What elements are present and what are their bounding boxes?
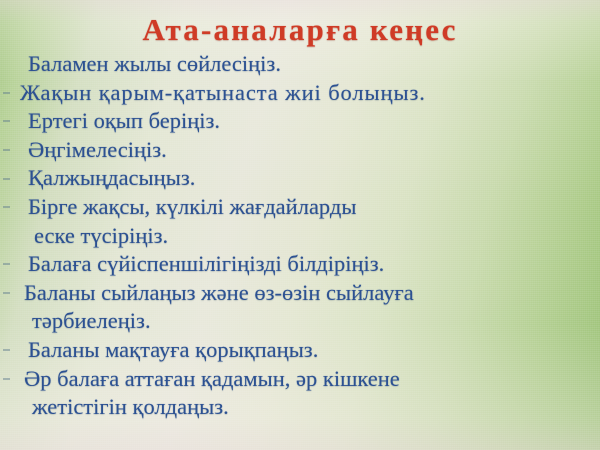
list-item-label: Жақын қарым-қатынаста жиі болыңыз. [20, 79, 426, 108]
bullet-dash-icon [3, 263, 10, 265]
list-item-label: Баланы мақтауға қорықпаңыз. [28, 336, 318, 365]
list-item-label: Балаға сүйіспеншілігіңізді білдіріңіз. [28, 250, 384, 279]
bullet-dash-icon [3, 349, 10, 351]
list-item-label: Ертегі оқып беріңіз. [28, 107, 220, 136]
list-item: Бірге жақсы, күлкілі жағдайларды [0, 193, 600, 222]
bullet-dash-icon [3, 92, 10, 94]
list-item: Ертегі оқып беріңіз. [0, 107, 600, 136]
list-item: Баламен жылы сөйлесіңіз. [0, 50, 600, 79]
list-item-label: Бірге жақсы, күлкілі жағдайларды [28, 193, 356, 222]
bullet-dash-icon [3, 178, 10, 180]
poster-background: Ата-аналарға кеңес Баламен жылы сөйлесің… [0, 0, 600, 450]
bullet-dash-icon [3, 378, 10, 380]
list-item-label: Баланы сыйлаңыз және өз-өзін сыйлауға [24, 279, 414, 308]
list-item: еске түсіріңіз. [0, 222, 600, 251]
poster-content: Ата-аналарға кеңес Баламен жылы сөйлесің… [0, 0, 600, 450]
advice-list: Баламен жылы сөйлесіңіз.Жақын қарым-қаты… [0, 50, 600, 422]
list-item-label: еске түсіріңіз. [34, 222, 168, 251]
list-item: жетістігін қолдаңыз. [0, 393, 600, 422]
list-item: тәрбиелеңіз. [0, 307, 600, 336]
list-item: Әңгімелесіңіз. [0, 136, 600, 165]
list-item-label: тәрбиелеңіз. [32, 307, 151, 336]
list-item: Қалжыңдасыңыз. [0, 164, 600, 193]
list-item-label: Әңгімелесіңіз. [28, 136, 167, 165]
bullet-dash-icon [3, 120, 10, 122]
list-item-label: Қалжыңдасыңыз. [28, 164, 195, 193]
bullet-dash-icon [3, 206, 10, 208]
list-item-label: Әр балаға аттаған қадамын, әр кішкене [24, 365, 400, 394]
list-item: Әр балаға аттаған қадамын, әр кішкене [0, 365, 600, 394]
list-item: Балаға сүйіспеншілігіңізді білдіріңіз. [0, 250, 600, 279]
bullet-dash-icon [3, 149, 10, 151]
list-item: Жақын қарым-қатынаста жиі болыңыз. [0, 79, 600, 108]
list-item: Баланы мақтауға қорықпаңыз. [0, 336, 600, 365]
list-item: Баланы сыйлаңыз және өз-өзін сыйлауға [0, 279, 600, 308]
list-item-label: Баламен жылы сөйлесіңіз. [28, 50, 281, 79]
bullet-dash-icon [3, 292, 10, 294]
list-item-label: жетістігін қолдаңыз. [32, 393, 229, 422]
page-title: Ата-аналарға кеңес [0, 12, 600, 48]
